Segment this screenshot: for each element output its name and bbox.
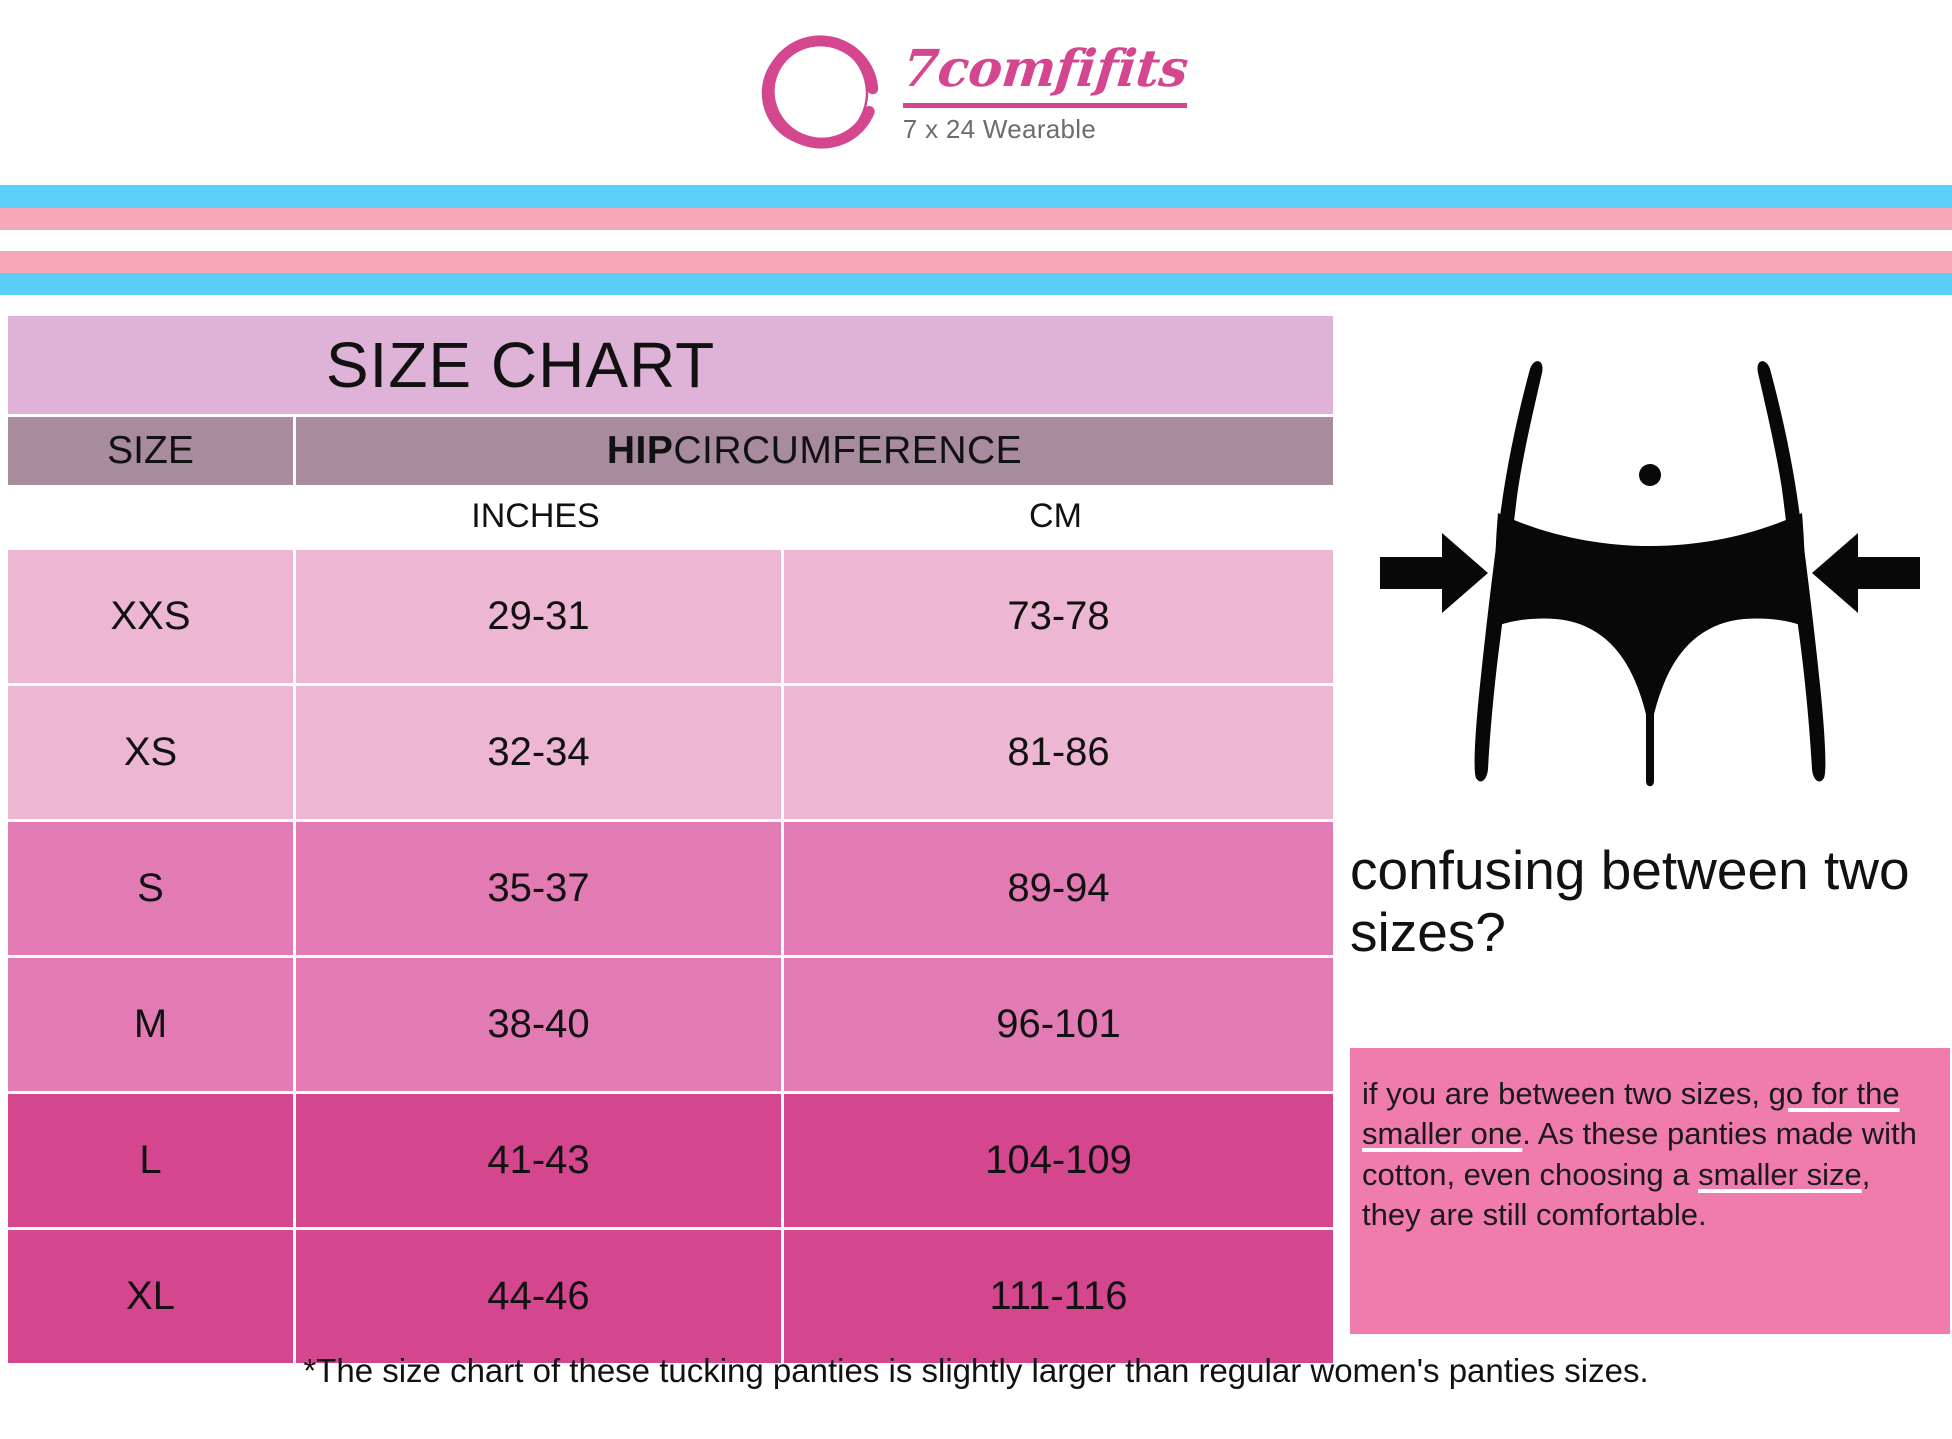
brand-tagline: 7 x 24 Wearable: [903, 114, 1187, 145]
table-row: M38-4096-101: [8, 958, 1333, 1091]
cell-size: XS: [8, 686, 293, 819]
advice-part-1: if you are between two sizes,: [1362, 1076, 1769, 1111]
table-unit-row: INCHES CM: [8, 485, 1333, 547]
cell-size: L: [8, 1094, 293, 1227]
brand-lockup: 7comfifits 7 x 24 Wearable: [753, 29, 1187, 157]
brand-text-block: 7comfifits 7 x 24 Wearable: [903, 40, 1187, 145]
cell-size: XXS: [8, 550, 293, 683]
cell-inches: 41-43: [296, 1094, 781, 1227]
cell-cm: 89-94: [784, 822, 1333, 955]
sizing-advice-box: if you are between two sizes, go for the…: [1350, 1048, 1950, 1334]
right-panel: confusing between two sizes? if you are …: [1348, 316, 1952, 1346]
confusing-sizes-heading: confusing between two sizes?: [1350, 840, 1950, 963]
brand-name: 7comfifits: [900, 44, 1190, 95]
table-row: S35-3789-94: [8, 822, 1333, 955]
table-row: L41-43104-109: [8, 1094, 1333, 1227]
table-row: XS32-3481-86: [8, 686, 1333, 819]
cell-cm: 111-116: [784, 1230, 1333, 1363]
cell-inches: 35-37: [296, 822, 781, 955]
torso-panties-hip-arrows-icon: [1348, 324, 1952, 804]
brand-header: 7comfifits 7 x 24 Wearable: [0, 0, 1952, 185]
sizing-advice-text: if you are between two sizes, go for the…: [1362, 1074, 1936, 1235]
stripe-pink-upper: [0, 208, 1952, 230]
unit-row-spacer: [8, 485, 293, 547]
page-title: SIZE CHART: [326, 328, 715, 402]
transgender-pride-stripes: [0, 185, 1952, 290]
cell-inches: 38-40: [296, 958, 781, 1091]
brand-divider: [903, 103, 1187, 108]
table-row: XXS29-3173-78: [8, 550, 1333, 683]
column-header-hip-circumference: HIP CIRCUMFERENCE: [296, 417, 1333, 485]
table-body: XXS29-3173-78XS32-3481-86S35-3789-94M38-…: [8, 550, 1333, 1363]
size-chart-footnote: *The size chart of these tucking panties…: [0, 1352, 1952, 1390]
column-header-cm: CM: [778, 485, 1333, 547]
table-row: XL44-46111-116: [8, 1230, 1333, 1363]
circle-brush-logo-icon: [753, 29, 881, 157]
column-header-hip-bold: HIP: [607, 429, 674, 473]
cell-cm: 96-101: [784, 958, 1333, 1091]
size-chart-page: 7comfifits 7 x 24 Wearable SIZE CHART SI…: [0, 0, 1952, 1439]
cell-cm: 81-86: [784, 686, 1333, 819]
column-header-hip-rest: CIRCUMFERENCE: [673, 429, 1022, 473]
stripe-white-middle: [0, 230, 1952, 251]
size-chart-table: SIZE CHART SIZE HIP CIRCUMFERENCE INCHES…: [8, 316, 1333, 1363]
stripe-blue-top: [0, 185, 1952, 208]
cell-inches: 29-31: [296, 550, 781, 683]
column-header-size: SIZE: [8, 417, 293, 485]
cell-size: M: [8, 958, 293, 1091]
cell-size: XL: [8, 1230, 293, 1363]
advice-underline-2: smaller size: [1698, 1157, 1862, 1192]
cell-size: S: [8, 822, 293, 955]
column-header-inches: INCHES: [293, 485, 778, 547]
table-header-band: SIZE HIP CIRCUMFERENCE: [8, 417, 1333, 485]
cell-cm: 73-78: [784, 550, 1333, 683]
stripe-pink-lower: [0, 251, 1952, 273]
cell-cm: 104-109: [784, 1094, 1333, 1227]
cell-inches: 44-46: [296, 1230, 781, 1363]
table-title-band: SIZE CHART: [8, 316, 1333, 414]
cell-inches: 32-34: [296, 686, 781, 819]
stripe-blue-bottom: [0, 273, 1952, 295]
